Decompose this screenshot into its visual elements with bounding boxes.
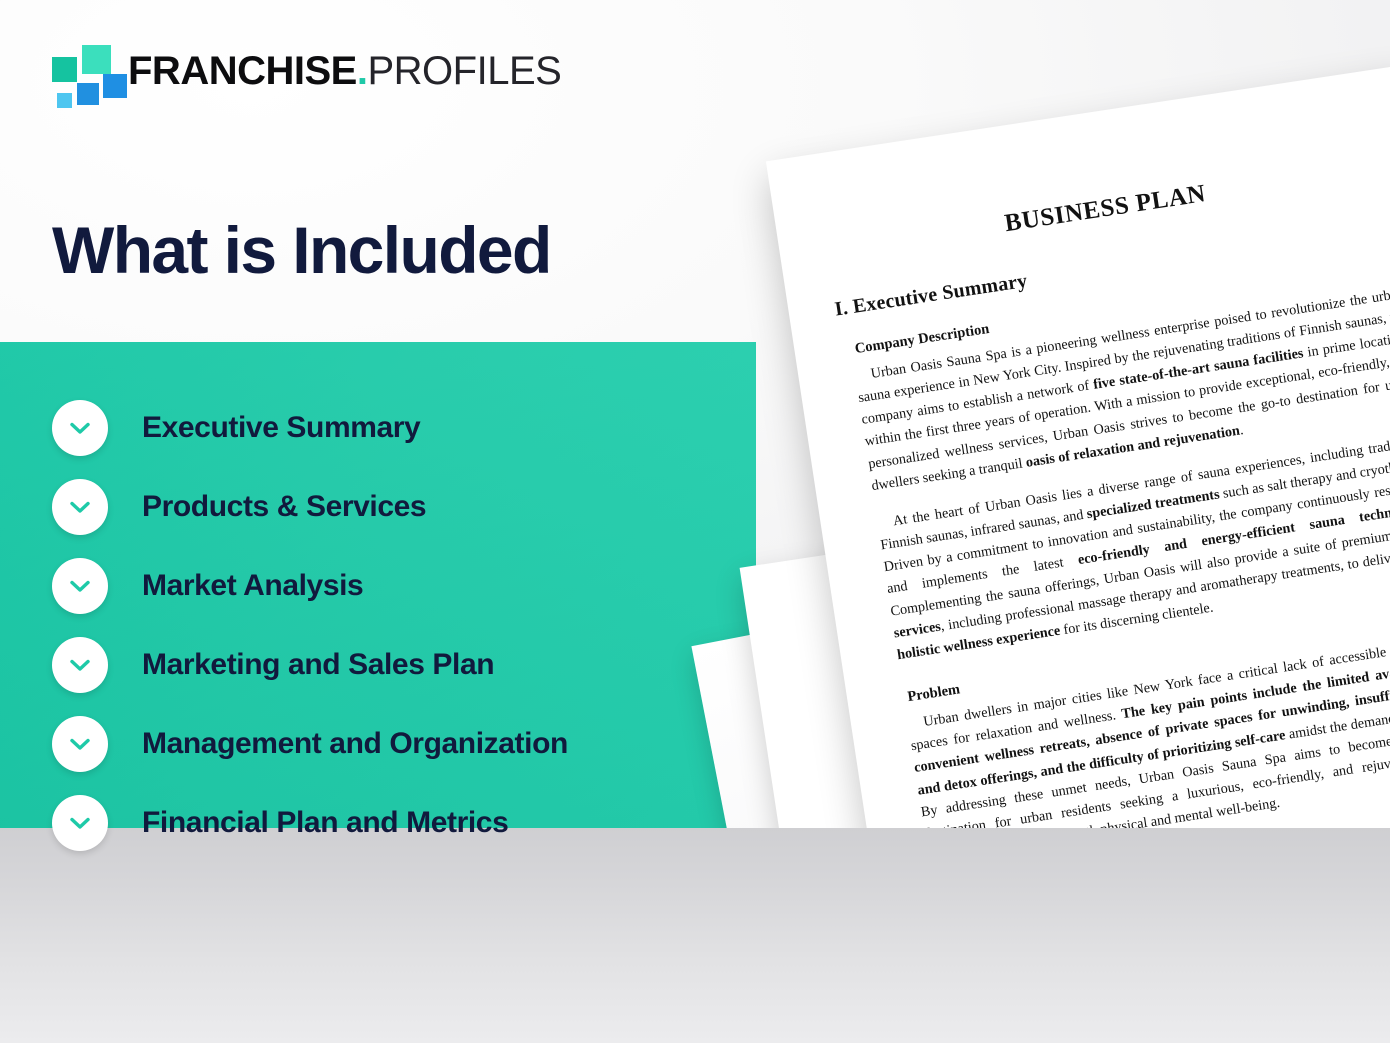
chevron-down-icon[interactable] [52,400,108,456]
list-item-label: Market Analysis [142,571,363,601]
document-page-front[interactable]: BUSINESS PLAN I. Executive Summary Compa… [766,63,1390,1031]
chevron-down-icon[interactable] [52,795,108,851]
list-item[interactable]: Executive Summary [52,398,752,458]
list-item[interactable]: Marketing and Sales Plan [52,635,752,695]
brand-name-dot: . [357,49,368,93]
list-item-label: Financial Plan and Metrics [142,808,508,838]
document-paragraph: Urban Oasis Sauna Spa will offer a compr… [936,831,1390,1043]
document-body: BUSINESS PLAN I. Executive Summary Compa… [766,63,1390,1031]
document-block-company-description: Company Description Urban Oasis Sauna Sp… [840,259,1390,668]
logo-square-4 [103,74,127,98]
business-plan-document-stack[interactable]: an wellness demands of city life. BUSINE… [640,120,1390,1043]
list-item[interactable]: Market Analysis [52,556,752,616]
list-item[interactable]: Products & Services [52,477,752,537]
chevron-down-icon[interactable] [52,637,108,693]
list-item-label: Executive Summary [142,413,420,443]
logo-mark-icon [48,43,106,99]
logo-square-1 [52,57,77,82]
chevron-down-icon[interactable] [52,558,108,614]
list-item[interactable]: Management and Organization [52,714,752,774]
chevron-down-icon[interactable] [52,479,108,535]
page-title: What is Included [52,214,551,287]
brand-logo[interactable]: FRANCHISE.PROFILES [48,42,561,100]
chevron-down-icon[interactable] [52,716,108,772]
list-item-label: Marketing and Sales Plan [142,650,494,680]
included-sections-list: Executive Summary Products & Services Ma… [52,398,752,853]
floor-highlight [0,828,1390,1043]
brand-name-bold: FRANCHISE [128,49,357,93]
brand-name-light: PROFILES [367,49,561,93]
logo-square-2 [82,45,111,74]
logo-square-3 [77,83,99,105]
brand-wordmark: FRANCHISE.PROFILES [128,51,561,91]
list-item-label: Management and Organization [142,729,568,759]
slide-canvas: FRANCHISE.PROFILES What is Included Exec… [0,0,1390,1043]
background-sheet-text: an wellness demands of city life. [1128,822,1390,874]
document-block-solution: Solution Urban Oasis Sauna Spa will offe… [923,808,1390,1043]
list-item[interactable]: Financial Plan and Metrics [52,793,752,853]
list-item-label: Products & Services [142,492,426,522]
logo-square-5 [57,93,72,108]
